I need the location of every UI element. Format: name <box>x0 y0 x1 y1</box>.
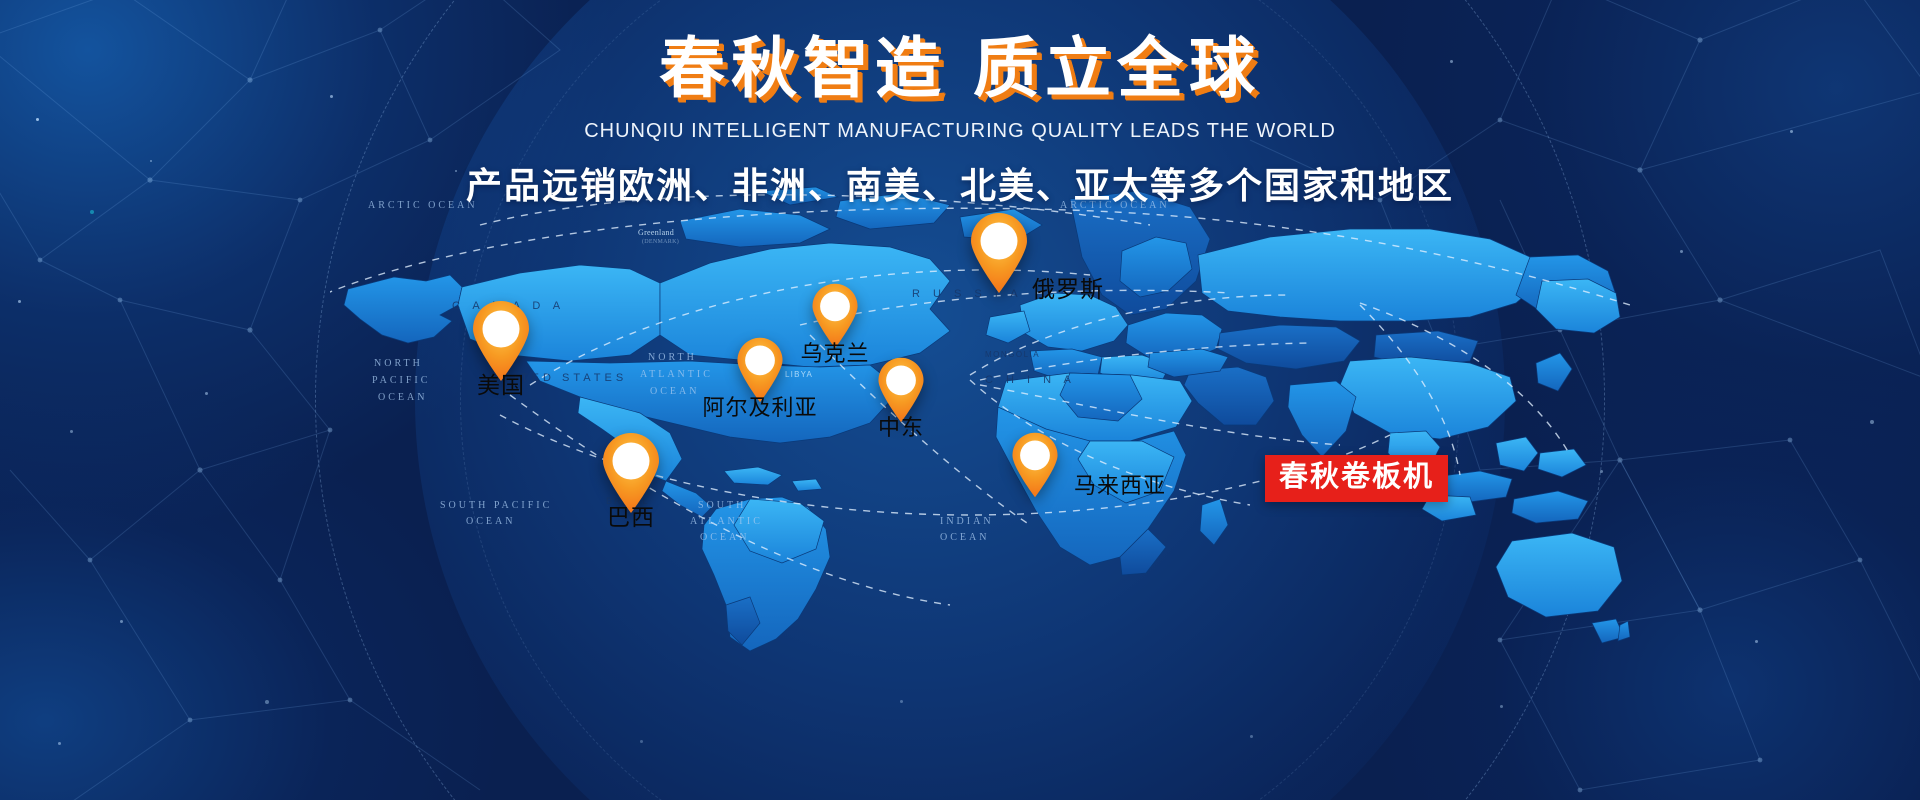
map-marker-label: 马来西亚 <box>1074 468 1166 500</box>
map-marker-middle-east[interactable]: 中东 <box>876 357 926 423</box>
map-marker-usa[interactable]: 美国 <box>470 300 532 382</box>
title-right: 质立全球 <box>973 31 1261 105</box>
map-marker-label: 俄罗斯 <box>1032 270 1104 304</box>
map-marker-malaysia[interactable]: 马来西亚 <box>1010 432 1060 498</box>
pin-icon <box>968 212 1030 294</box>
page-title: 春秋智造质立全球 <box>0 34 1920 104</box>
map-marker-label: 美国 <box>477 366 525 400</box>
banner-headings: 春秋智造质立全球 CHUNQIU INTELLIGENT MANUFACTURI… <box>0 34 1920 209</box>
subtitle-english: CHUNQIU INTELLIGENT MANUFACTURING QUALIT… <box>0 120 1920 143</box>
banner-root: 春秋智造质立全球 CHUNQIU INTELLIGENT MANUFACTURI… <box>0 0 1920 800</box>
map-marker-label: 巴西 <box>607 498 655 532</box>
map-marker-label: 阿尔及利亚 <box>702 390 817 422</box>
subtitle-chinese: 产品远销欧洲、非洲、南美、北美、亚太等多个国家和地区 <box>0 157 1920 209</box>
map-marker-label: 乌克兰 <box>800 336 869 368</box>
pin-icon <box>1010 432 1060 498</box>
map-marker-label: 中东 <box>878 410 924 442</box>
product-badge[interactable]: 春秋卷板机 <box>1265 455 1448 502</box>
title-left: 春秋智造 <box>659 31 947 105</box>
map-marker-brazil[interactable]: 巴西 <box>600 432 662 514</box>
map-marker-ukraine[interactable]: 乌克兰 <box>810 283 860 349</box>
map-marker-algeria[interactable]: 阿尔及利亚 <box>735 337 785 403</box>
map-marker-russia[interactable]: 俄罗斯 <box>968 212 1030 294</box>
